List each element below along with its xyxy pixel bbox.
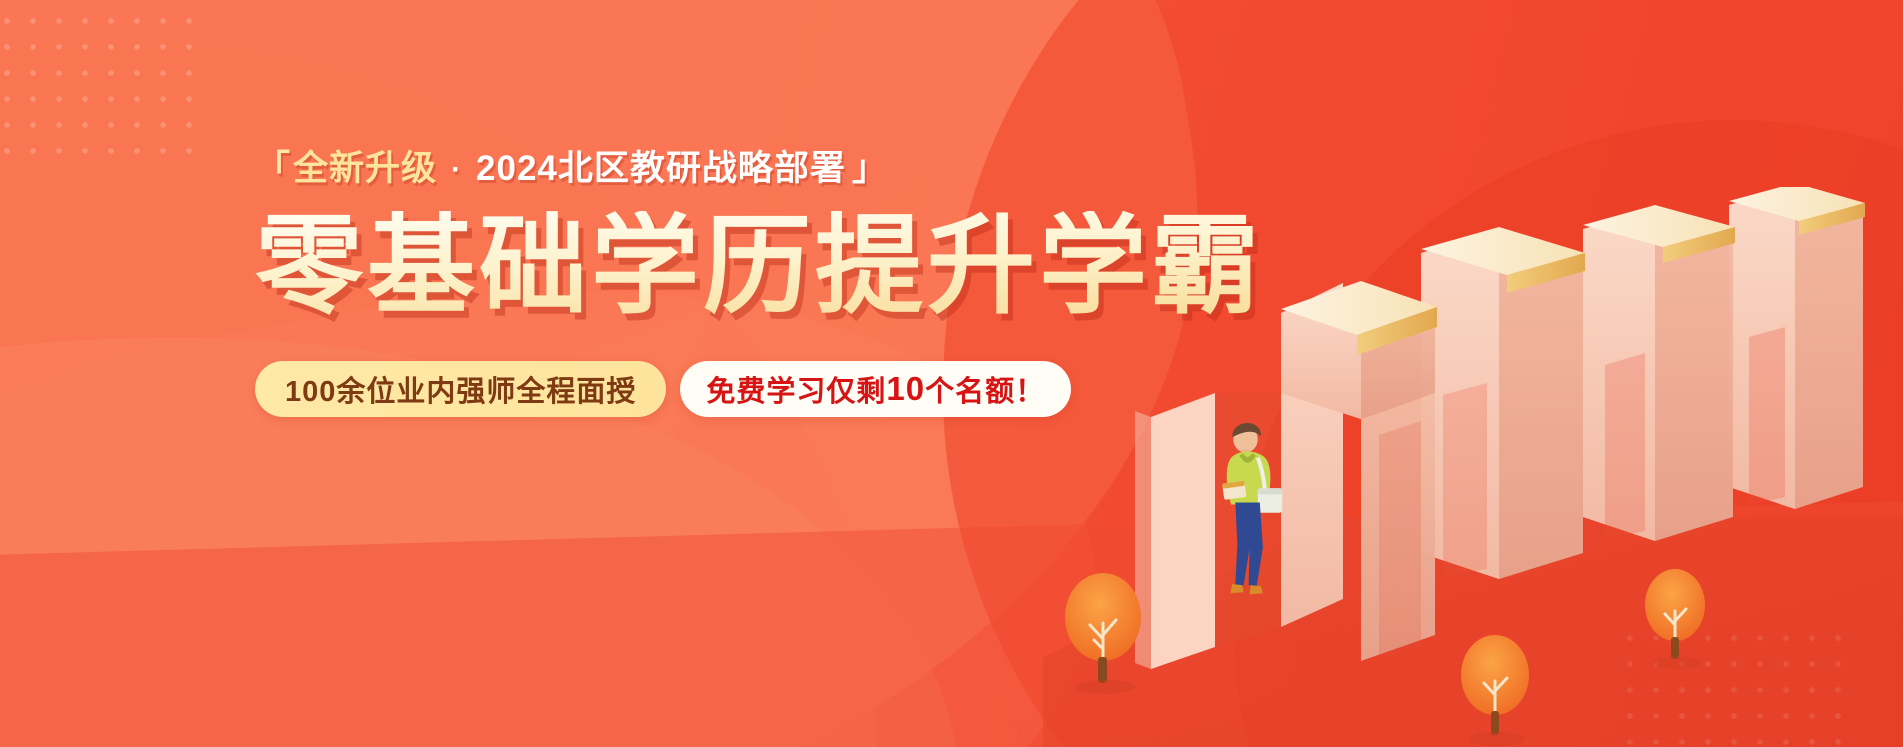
banner-pill-row: 100余位业内强师全程面授 免费学习仅剩 10 个名额！	[255, 361, 1255, 417]
pill-teachers: 100余位业内强师全程面授	[255, 361, 666, 417]
pill-quota-suffix: 个名额！	[925, 368, 1045, 410]
banner-headline: 零基础学历提升学霸班	[255, 211, 1255, 321]
dot-grid-top-left-icon	[0, 8, 194, 168]
banner-copy: 「 全新升级 · 2024北区教研战略部署 」 零基础学历提升学霸班 100余位…	[255, 150, 1255, 417]
pill-quota-prefix: 免费学习仅剩	[706, 368, 886, 410]
banner-subtitle: 「 全新升级 · 2024北区教研战略部署 」	[255, 150, 1255, 189]
subtitle-close-bracket: 」	[852, 150, 888, 189]
pill-free-quota: 免费学习仅剩 10 个名额！	[680, 361, 1071, 417]
subtitle-open-bracket: 「	[255, 150, 291, 189]
pill-quota-number: 10	[886, 370, 925, 408]
subtitle-separator-dot: ·	[437, 153, 476, 186]
promo-banner: 「 全新升级 · 2024北区教研战略部署 」 零基础学历提升学霸班 100余位…	[0, 0, 1903, 747]
subtitle-highlight: 全新升级	[293, 150, 437, 189]
pill-teachers-label: 100余位业内强师全程面授	[285, 368, 636, 410]
subtitle-main-text: 2024北区教研战略部署	[476, 150, 846, 189]
